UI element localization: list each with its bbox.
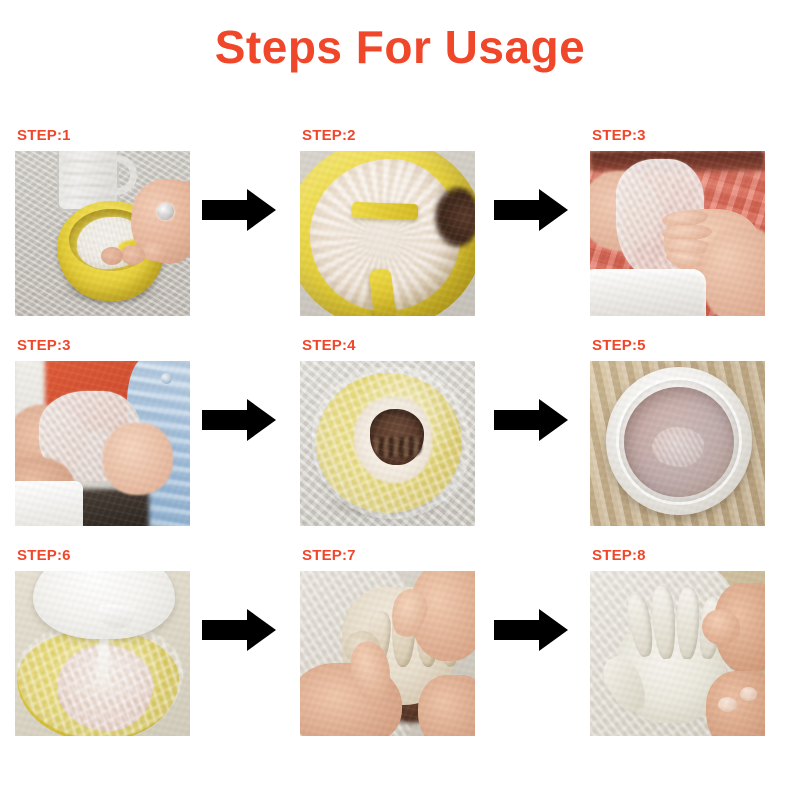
step-label: STEP:7	[300, 545, 475, 567]
photo-grain	[300, 361, 475, 526]
step-cell-4[interactable]: STEP:3	[15, 335, 190, 526]
step-label: STEP:1	[15, 125, 190, 147]
step-label: STEP:5	[590, 335, 765, 357]
photo-grain	[300, 571, 475, 736]
step-label: STEP:3	[15, 335, 190, 357]
step-photo-hand-in-bag	[590, 151, 765, 316]
photo-grain	[15, 571, 190, 736]
photo-grain	[590, 151, 765, 316]
step-cell-9[interactable]: STEP:8	[590, 545, 765, 736]
photo-grain	[15, 151, 190, 316]
step-label: STEP:8	[590, 545, 765, 567]
step-label: STEP:3	[590, 125, 765, 147]
step-cell-1[interactable]: STEP:1	[15, 125, 190, 316]
step-cell-3[interactable]: STEP:3	[590, 125, 765, 316]
step-photo-mold-cavity	[300, 361, 475, 526]
arrow-right-icon	[492, 397, 570, 443]
steps-row-2: STEP:3	[0, 335, 800, 545]
step-photo-bowl-with-powder	[15, 151, 190, 316]
photo-grain	[590, 361, 765, 526]
step-cell-7[interactable]: STEP:6	[15, 545, 190, 736]
step-cell-2[interactable]: STEP:2	[300, 125, 475, 316]
step-cell-8[interactable]: STEP:7	[300, 545, 475, 736]
step-photo-demolding-cast	[300, 571, 475, 736]
step-label: STEP:6	[15, 545, 190, 567]
steps-row-3: STEP:6 STEP:7	[0, 545, 800, 755]
arrow-right-icon	[200, 187, 278, 233]
step-cell-5[interactable]: STEP:4	[300, 335, 475, 526]
photo-grain	[590, 571, 765, 736]
step-photo-plaster-bucket	[590, 361, 765, 526]
arrow-right-icon	[200, 607, 278, 653]
step-cell-6[interactable]: STEP:5	[590, 335, 765, 526]
photo-grain	[300, 151, 475, 316]
steps-for-usage-infographic: Steps For Usage STEP:1	[0, 0, 800, 800]
photo-grain	[15, 361, 190, 526]
step-photo-mixed-alginate	[300, 151, 475, 316]
arrow-right-icon	[492, 187, 570, 233]
step-photo-pouring-plaster	[15, 571, 190, 736]
arrow-right-icon	[492, 607, 570, 653]
step-photo-child-hand-insert	[15, 361, 190, 526]
steps-grid: STEP:1	[0, 125, 800, 755]
step-label: STEP:4	[300, 335, 475, 357]
step-label: STEP:2	[300, 125, 475, 147]
arrow-right-icon	[200, 397, 278, 443]
steps-row-1: STEP:1	[0, 125, 800, 335]
page-title: Steps For Usage	[0, 20, 800, 74]
step-photo-finished-cast	[590, 571, 765, 736]
